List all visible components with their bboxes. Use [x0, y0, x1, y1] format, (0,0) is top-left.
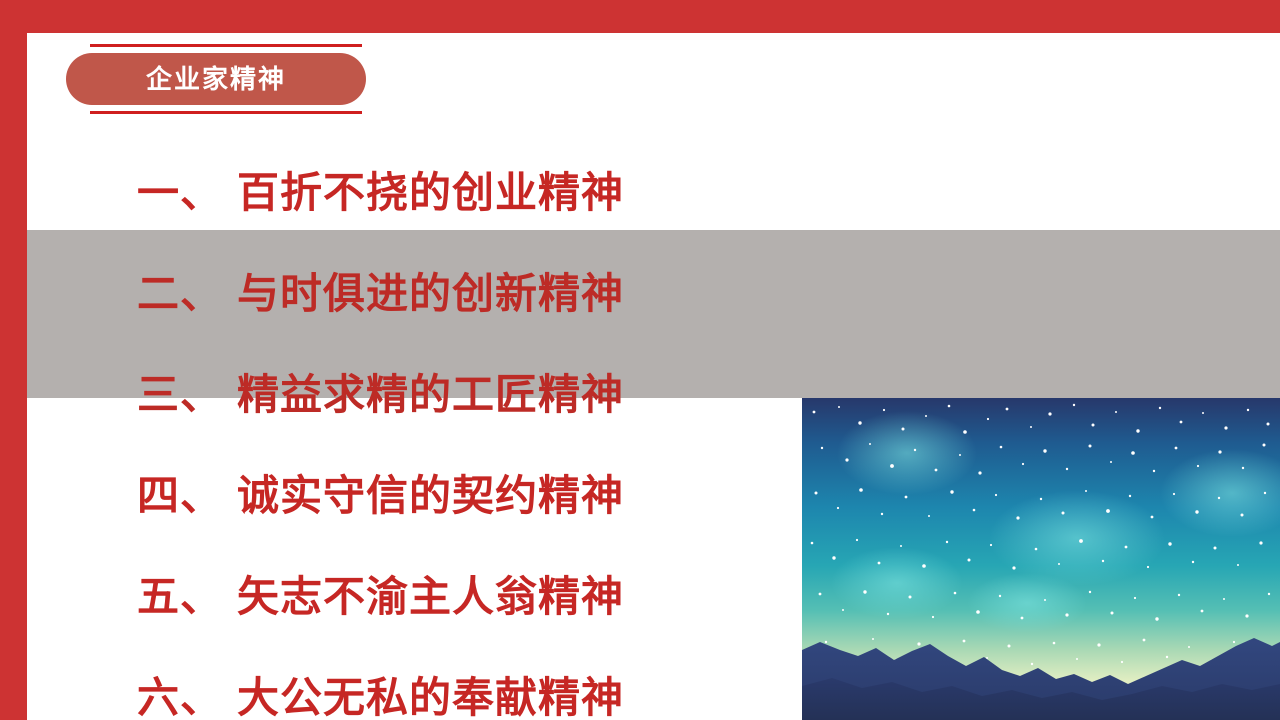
- list-item-index: 二、: [137, 273, 223, 315]
- list-item-label: 大公无私的奉献精神: [237, 677, 624, 719]
- badge-pill: 企业家精神: [66, 53, 366, 105]
- badge-rule-top: [90, 44, 362, 47]
- list-item-index: 四、: [137, 475, 223, 517]
- list-item[interactable]: 四、 诚实守信的契约精神: [137, 445, 624, 546]
- title-badge: 企业家精神: [66, 44, 366, 114]
- frame-top-bar: [0, 0, 1280, 33]
- list-item-index: 五、: [137, 576, 223, 618]
- list-item[interactable]: 五、 矢志不渝主人翁精神: [137, 546, 624, 647]
- list-item-index: 一、: [137, 172, 223, 214]
- list-item-index: 六、: [137, 677, 223, 719]
- list-item-label: 百折不挠的创业精神: [237, 172, 624, 214]
- slide-canvas: 一、 百折不挠的创业精神 二、 与时俱进的创新精神 三、 精益求精的工匠精神 四…: [0, 0, 1280, 720]
- list-item-label: 与时俱进的创新精神: [237, 273, 624, 315]
- list-item-index: 三、: [137, 374, 223, 416]
- list-item[interactable]: 六、 大公无私的奉献精神: [137, 647, 624, 720]
- list-item-label: 矢志不渝主人翁精神: [237, 576, 624, 618]
- list-item[interactable]: 二、 与时俱进的创新精神: [137, 243, 624, 344]
- list-item-label: 精益求精的工匠精神: [237, 374, 624, 416]
- starfield-image: [802, 398, 1280, 720]
- list-item-label: 诚实守信的契约精神: [237, 475, 624, 517]
- badge-rule-bottom: [90, 111, 362, 114]
- frame-left-bar: [0, 0, 27, 720]
- list-item[interactable]: 三、 精益求精的工匠精神: [137, 344, 624, 445]
- principles-list: 一、 百折不挠的创业精神 二、 与时俱进的创新精神 三、 精益求精的工匠精神 四…: [137, 142, 624, 720]
- list-item[interactable]: 一、 百折不挠的创业精神: [137, 142, 624, 243]
- badge-label: 企业家精神: [146, 66, 286, 92]
